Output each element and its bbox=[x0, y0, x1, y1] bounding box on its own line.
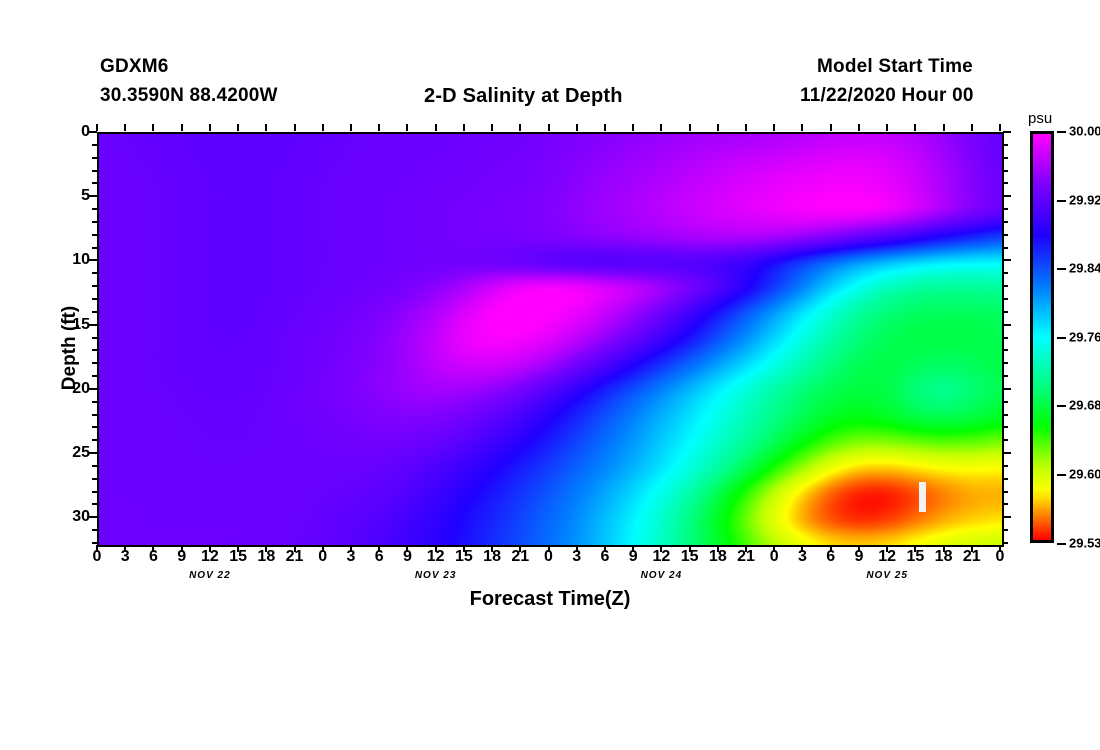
y-axis-tick-right bbox=[1003, 388, 1011, 390]
y-axis-tick-label: 20 bbox=[72, 380, 90, 398]
y-axis-minor-tick bbox=[92, 362, 97, 364]
y-axis-minor-tick bbox=[92, 491, 97, 493]
x-axis-tick-label: 15 bbox=[681, 548, 699, 566]
x-axis-tick-label: 21 bbox=[737, 548, 755, 566]
x-axis-tick-top bbox=[350, 124, 352, 131]
colorbar-tick-label: 29.531 bbox=[1069, 536, 1100, 551]
y-axis-tick-right bbox=[1003, 491, 1008, 493]
x-axis-tick-top bbox=[632, 124, 634, 131]
colorbar-tick-label: 29.609 bbox=[1069, 467, 1100, 482]
y-axis-minor-tick bbox=[92, 311, 97, 313]
x-axis-tick-top bbox=[265, 124, 267, 131]
x-axis-tick-label: 6 bbox=[375, 548, 384, 566]
y-axis-tick-right bbox=[1003, 170, 1008, 172]
colorbar-tick bbox=[1057, 543, 1066, 545]
y-axis-tick bbox=[89, 131, 97, 133]
x-axis-tick-label: 0 bbox=[318, 548, 327, 566]
x-axis-tick-label: 21 bbox=[963, 548, 981, 566]
x-axis-tick-top bbox=[548, 124, 550, 131]
x-axis-tick-top bbox=[152, 124, 154, 131]
y-axis-minor-tick bbox=[92, 144, 97, 146]
y-axis-minor-tick bbox=[92, 439, 97, 441]
colorbar-units-label: psu bbox=[1028, 110, 1052, 127]
y-axis-tick-right bbox=[1003, 516, 1011, 518]
x-axis-date-label: NOV 23 bbox=[415, 570, 457, 581]
x-axis-tick-label: 3 bbox=[347, 548, 356, 566]
y-axis-tick-label: 10 bbox=[72, 251, 90, 269]
y-axis-title: Depth (ft) bbox=[59, 268, 81, 428]
y-axis-minor-tick bbox=[92, 375, 97, 377]
y-axis-tick-right bbox=[1003, 298, 1008, 300]
y-axis-tick-right bbox=[1003, 131, 1011, 133]
colorbar-tick bbox=[1057, 474, 1066, 476]
x-axis-tick-top bbox=[463, 124, 465, 131]
y-axis-minor-tick bbox=[92, 529, 97, 531]
y-axis-tick-right bbox=[1003, 311, 1008, 313]
y-axis-tick-label: 30 bbox=[72, 508, 90, 526]
x-axis-tick-top bbox=[830, 124, 832, 131]
station-coordinates: 30.3590N 88.4200W bbox=[100, 85, 278, 107]
y-axis-tick-right bbox=[1003, 465, 1008, 467]
x-axis-tick-label: 12 bbox=[201, 548, 219, 566]
colorbar-tick-label: 30.000 bbox=[1069, 124, 1100, 139]
station-id: GDXM6 bbox=[100, 56, 169, 78]
y-axis-minor-tick bbox=[92, 414, 97, 416]
x-axis-tick-top bbox=[406, 124, 408, 131]
y-axis-tick-right bbox=[1003, 426, 1008, 428]
y-axis-tick-right bbox=[1003, 324, 1011, 326]
x-axis-tick-label: 6 bbox=[600, 548, 609, 566]
x-axis-tick-top bbox=[209, 124, 211, 131]
x-axis-title: Forecast Time(Z) bbox=[0, 588, 1100, 611]
y-axis-tick-right bbox=[1003, 414, 1008, 416]
x-axis-tick-label: 12 bbox=[652, 548, 670, 566]
colorbar-gradient bbox=[1033, 134, 1051, 540]
y-axis-minor-tick bbox=[92, 285, 97, 287]
x-axis-tick-label: 3 bbox=[121, 548, 130, 566]
x-axis-tick-label: 0 bbox=[544, 548, 553, 566]
y-axis-tick-label: 15 bbox=[72, 316, 90, 334]
y-axis-tick-right bbox=[1003, 439, 1008, 441]
x-axis-tick-top bbox=[604, 124, 606, 131]
y-axis-tick-label: 25 bbox=[72, 444, 90, 462]
y-axis-minor-tick bbox=[92, 298, 97, 300]
x-axis-tick-label: 12 bbox=[878, 548, 896, 566]
y-axis-minor-tick bbox=[92, 208, 97, 210]
x-axis-tick-label: 18 bbox=[935, 548, 953, 566]
colorbar-tick-label: 29.766 bbox=[1069, 329, 1100, 344]
y-axis-minor-tick bbox=[92, 337, 97, 339]
x-axis-tick-top bbox=[294, 124, 296, 131]
y-axis-minor-tick bbox=[92, 465, 97, 467]
x-axis-tick-top bbox=[999, 124, 1001, 131]
y-axis-tick-right bbox=[1003, 234, 1008, 236]
y-axis-minor-tick bbox=[92, 503, 97, 505]
y-axis-tick-right bbox=[1003, 542, 1008, 544]
x-axis-tick-label: 15 bbox=[229, 548, 247, 566]
x-axis-tick-top bbox=[914, 124, 916, 131]
y-axis-tick-right bbox=[1003, 349, 1008, 351]
x-axis-tick-top bbox=[435, 124, 437, 131]
y-axis-tick-right bbox=[1003, 375, 1008, 377]
model-start-time-label: Model Start Time bbox=[817, 56, 973, 78]
colorbar-tick bbox=[1057, 131, 1066, 133]
x-axis-tick-label: 18 bbox=[483, 548, 501, 566]
y-axis-tick-right bbox=[1003, 182, 1008, 184]
x-axis-tick-label: 15 bbox=[906, 548, 924, 566]
x-axis-tick-top bbox=[181, 124, 183, 131]
x-axis-tick-label: 0 bbox=[996, 548, 1005, 566]
colorbar-tick bbox=[1057, 405, 1066, 407]
y-axis-tick-right bbox=[1003, 272, 1008, 274]
y-axis-minor-tick bbox=[92, 478, 97, 480]
colorbar-tick-label: 29.688 bbox=[1069, 398, 1100, 413]
y-axis-minor-tick bbox=[92, 182, 97, 184]
salinity-heatmap-canvas bbox=[99, 134, 1002, 545]
x-axis-tick-top bbox=[773, 124, 775, 131]
y-axis-tick-right bbox=[1003, 221, 1008, 223]
y-axis-tick-right bbox=[1003, 195, 1011, 197]
x-axis-tick-label: 18 bbox=[257, 548, 275, 566]
y-axis-tick-right bbox=[1003, 259, 1011, 261]
heatmap-plot-area bbox=[97, 132, 1004, 547]
x-axis-tick-label: 3 bbox=[572, 548, 581, 566]
x-axis-tick-top bbox=[717, 124, 719, 131]
y-axis-tick-right bbox=[1003, 285, 1008, 287]
x-axis-tick-top bbox=[660, 124, 662, 131]
y-axis-minor-tick bbox=[92, 542, 97, 544]
x-axis-tick-top bbox=[801, 124, 803, 131]
y-axis-tick-right bbox=[1003, 401, 1008, 403]
x-axis-tick-top bbox=[689, 124, 691, 131]
x-axis-tick-top bbox=[971, 124, 973, 131]
y-axis-minor-tick bbox=[92, 234, 97, 236]
x-axis-tick-label: 9 bbox=[629, 548, 638, 566]
y-axis-minor-tick bbox=[92, 426, 97, 428]
x-axis-tick-label: 9 bbox=[177, 548, 186, 566]
x-axis-tick-top bbox=[858, 124, 860, 131]
colorbar-tick bbox=[1057, 200, 1066, 202]
x-axis-tick-label: 9 bbox=[403, 548, 412, 566]
x-axis-date-label: NOV 25 bbox=[866, 570, 908, 581]
colorbar bbox=[1030, 131, 1054, 543]
y-axis-tick bbox=[89, 195, 97, 197]
x-axis-tick-label: 18 bbox=[709, 548, 727, 566]
x-axis-tick-label: 6 bbox=[826, 548, 835, 566]
x-axis-tick-label: 0 bbox=[93, 548, 102, 566]
y-axis-minor-tick bbox=[92, 247, 97, 249]
x-axis-tick-top bbox=[124, 124, 126, 131]
x-axis-tick-top bbox=[96, 124, 98, 131]
y-axis-tick-right bbox=[1003, 452, 1011, 454]
y-axis-minor-tick bbox=[92, 401, 97, 403]
y-axis-tick-right bbox=[1003, 478, 1008, 480]
station-depth-marker bbox=[919, 482, 926, 512]
y-axis-tick-right bbox=[1003, 247, 1008, 249]
x-axis-tick-label: 21 bbox=[511, 548, 529, 566]
x-axis-tick-top bbox=[943, 124, 945, 131]
y-axis-tick-right bbox=[1003, 529, 1008, 531]
salinity-depth-figure: GDXM6 30.3590N 88.4200W 2-D Salinity at … bbox=[0, 0, 1100, 750]
x-axis-tick-top bbox=[237, 124, 239, 131]
x-axis-tick-top bbox=[886, 124, 888, 131]
y-axis-tick-label: 0 bbox=[81, 123, 90, 141]
x-axis-tick-top bbox=[519, 124, 521, 131]
x-axis-tick-label: 15 bbox=[455, 548, 473, 566]
x-axis-tick-top bbox=[322, 124, 324, 131]
x-axis-date-label: NOV 24 bbox=[641, 570, 683, 581]
y-axis-tick-right bbox=[1003, 208, 1008, 210]
colorbar-tick-label: 29.922 bbox=[1069, 192, 1100, 207]
x-axis-date-label: NOV 22 bbox=[189, 570, 231, 581]
colorbar-tick bbox=[1057, 268, 1066, 270]
x-axis-tick-label: 9 bbox=[854, 548, 863, 566]
y-axis-minor-tick bbox=[92, 272, 97, 274]
y-axis-tick-right bbox=[1003, 362, 1008, 364]
y-axis-tick-label: 5 bbox=[81, 187, 90, 205]
y-axis-minor-tick bbox=[92, 170, 97, 172]
colorbar-tick bbox=[1057, 337, 1066, 339]
x-axis-tick-top bbox=[745, 124, 747, 131]
y-axis-minor-tick bbox=[92, 221, 97, 223]
x-axis-tick-label: 3 bbox=[798, 548, 807, 566]
y-axis-tick-right bbox=[1003, 337, 1008, 339]
y-axis-tick-right bbox=[1003, 503, 1008, 505]
x-axis-tick-top bbox=[378, 124, 380, 131]
x-axis-tick-top bbox=[576, 124, 578, 131]
x-axis-tick-label: 6 bbox=[149, 548, 158, 566]
y-axis-minor-tick bbox=[92, 349, 97, 351]
x-axis-tick-label: 0 bbox=[770, 548, 779, 566]
model-start-time-value: 11/22/2020 Hour 00 bbox=[800, 85, 974, 107]
x-axis-tick-label: 21 bbox=[286, 548, 304, 566]
colorbar-tick-label: 29.844 bbox=[1069, 261, 1100, 276]
chart-title: 2-D Salinity at Depth bbox=[424, 85, 623, 108]
y-axis-tick-right bbox=[1003, 144, 1008, 146]
y-axis-tick-right bbox=[1003, 157, 1008, 159]
x-axis-tick-label: 12 bbox=[427, 548, 445, 566]
x-axis-tick-top bbox=[491, 124, 493, 131]
y-axis-minor-tick bbox=[92, 157, 97, 159]
